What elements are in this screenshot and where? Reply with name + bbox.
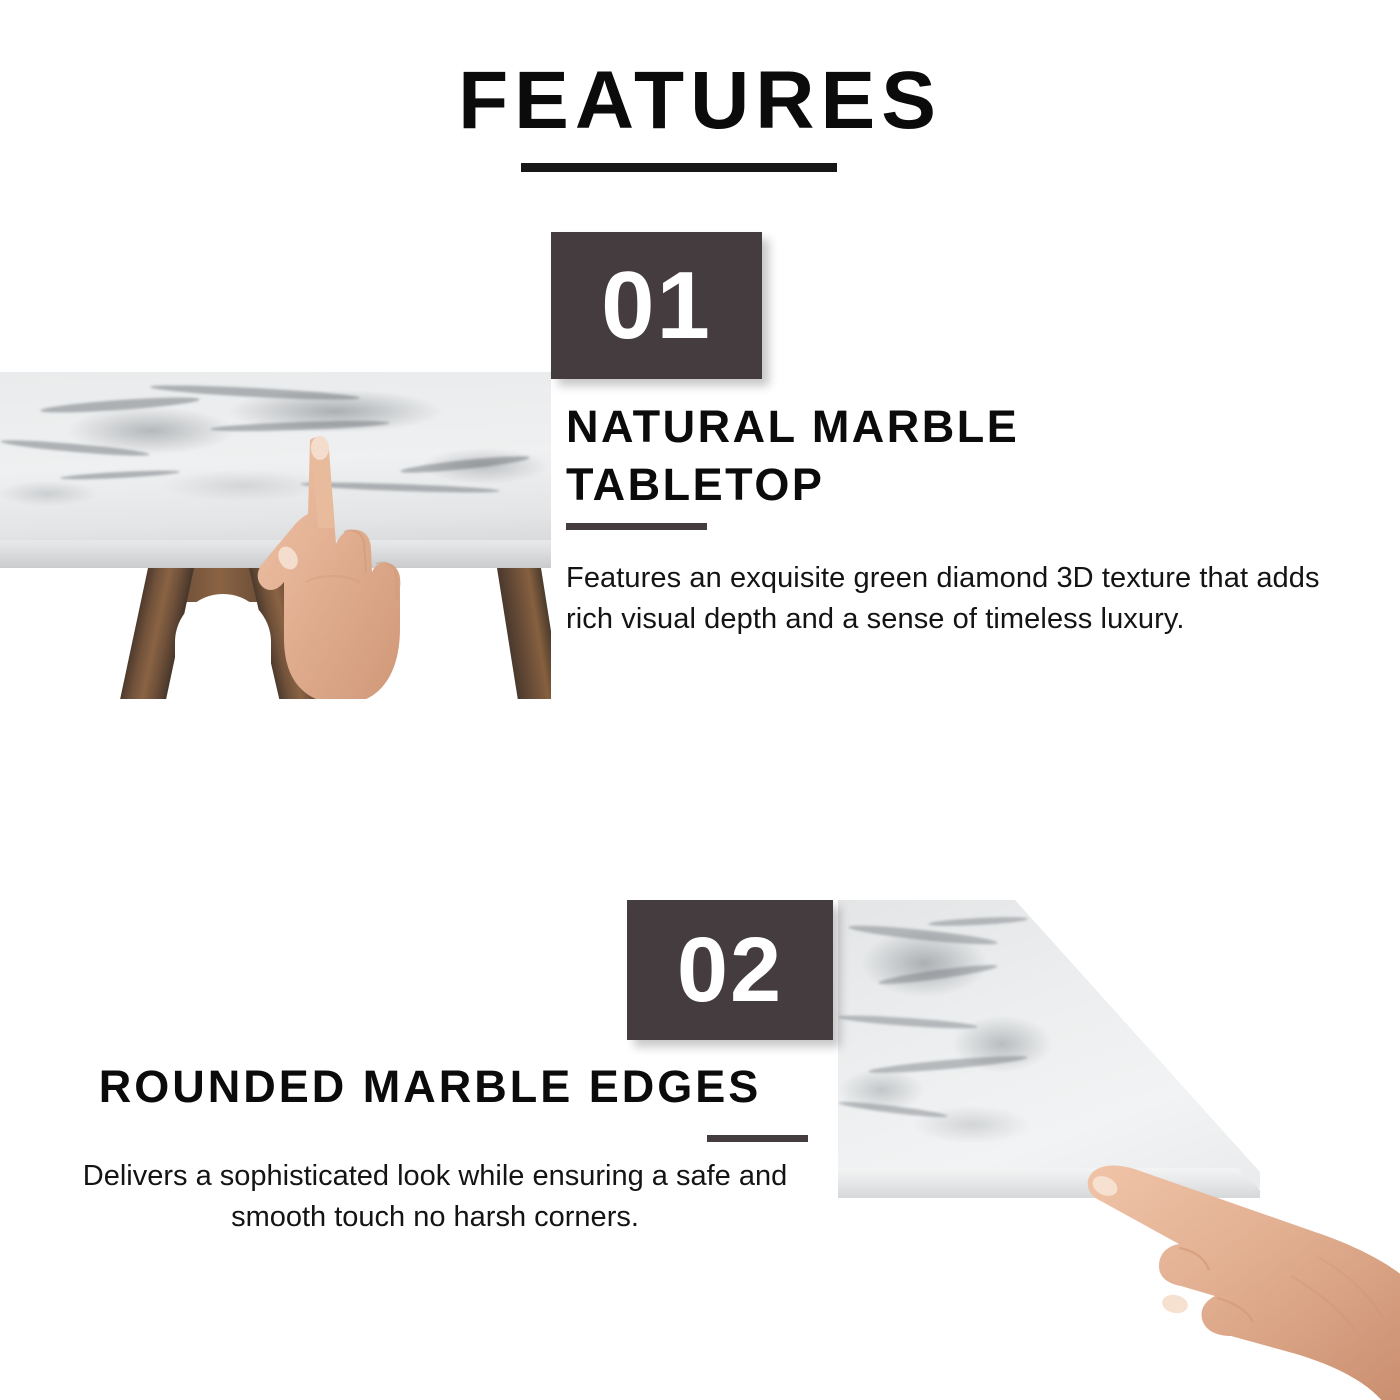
- feature-02-heading: ROUNDED MARBLE EDGES: [30, 1058, 830, 1116]
- marble-slab-surface: [838, 900, 1260, 1188]
- pointing-hand-icon: [248, 432, 428, 699]
- feature-02-image: [838, 900, 1400, 1400]
- page-title: FEATURES: [0, 56, 1400, 146]
- feature-01-number-badge: 01: [551, 232, 762, 379]
- table-leg-far: [497, 568, 551, 699]
- features-infographic-page: FEATURES: [0, 0, 1400, 1400]
- title-underline-rule: [521, 163, 837, 172]
- feature-01-body-text: Features an exquisite green diamond 3D t…: [566, 558, 1366, 640]
- feature-01-divider: [566, 523, 707, 530]
- feature-01-image: [0, 372, 551, 699]
- feature-01-heading: NATURAL MARBLE TABLETOP: [566, 398, 1206, 514]
- feature-02-body-text: Delivers a sophisticated look while ensu…: [40, 1156, 830, 1238]
- feature-02-divider: [707, 1135, 808, 1142]
- feature-02-number-badge: 02: [627, 900, 833, 1040]
- pointing-hand-icon: [1083, 1156, 1400, 1400]
